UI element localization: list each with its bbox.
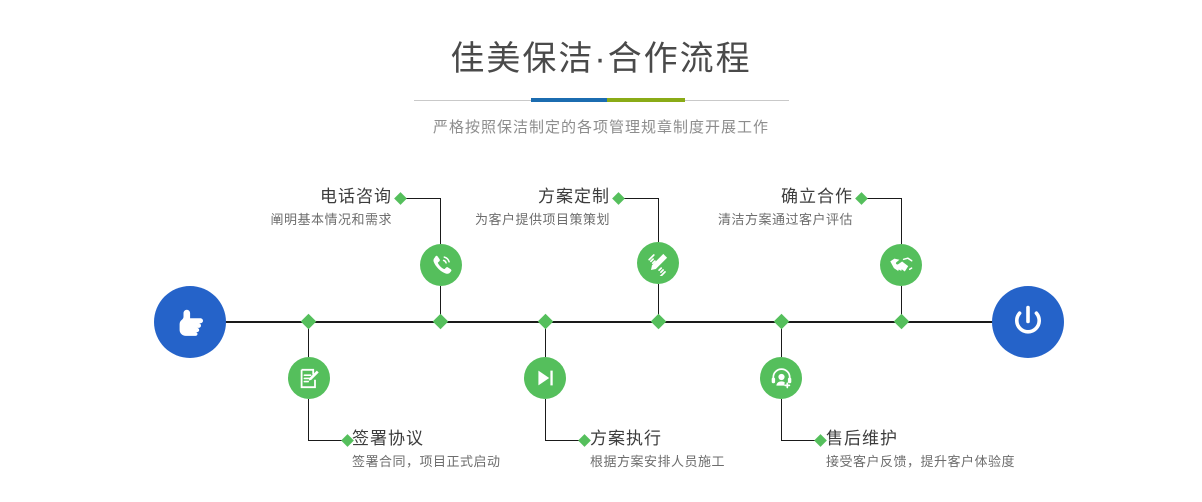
connector-step-1-vertical bbox=[440, 198, 441, 244]
marker-step-4-label bbox=[578, 434, 591, 447]
node-step-6 bbox=[760, 357, 802, 399]
document-edit-icon bbox=[297, 366, 322, 391]
label-step-3-desc: 为客户提供项目策策划 bbox=[330, 210, 610, 230]
marker-step-6-axis bbox=[774, 314, 790, 330]
handshake-icon bbox=[888, 252, 914, 278]
label-step-6-desc: 接受客户反馈，提升客户体验度 bbox=[826, 452, 1015, 472]
label-step-2: 签署协议 签署合同，项目正式启动 bbox=[352, 428, 501, 472]
connector-step-3-horizontal bbox=[620, 198, 659, 199]
marker-step-4-axis bbox=[538, 314, 554, 330]
label-step-3: 方案定制 为客户提供项目策策划 bbox=[330, 186, 610, 230]
label-step-4-desc: 根据方案安排人员施工 bbox=[590, 452, 725, 472]
label-step-5: 确立合作 清洁方案通过客户评估 bbox=[570, 186, 853, 230]
cooperation-process-infographic: 佳美保洁·合作流程 严格按照保洁制定的各项管理规章制度开展工作 bbox=[0, 0, 1202, 502]
node-step-3 bbox=[637, 242, 679, 284]
node-step-5 bbox=[880, 244, 922, 286]
label-step-6-title: 售后维护 bbox=[826, 428, 1015, 450]
marker-step-5-axis bbox=[894, 314, 910, 330]
connector-step-1-horizontal bbox=[402, 198, 441, 199]
marker-step-2-axis bbox=[301, 314, 317, 330]
marker-step-5-label bbox=[855, 192, 868, 205]
pencil-ruler-icon bbox=[645, 250, 671, 276]
play-step-icon bbox=[533, 366, 557, 390]
label-step-2-title: 签署协议 bbox=[352, 428, 501, 450]
marker-step-6-label bbox=[814, 434, 827, 447]
pointing-hand-icon bbox=[170, 302, 210, 342]
customer-service-icon bbox=[769, 366, 794, 391]
label-step-5-desc: 清洁方案通过客户评估 bbox=[570, 210, 853, 230]
power-button-icon bbox=[1007, 301, 1049, 343]
node-step-2 bbox=[288, 357, 330, 399]
marker-step-3-axis bbox=[651, 314, 667, 330]
flow-diagram: 电话咨询 阐明基本情况和需求 签署协议 签署合同，项目正式启动 bbox=[0, 0, 1202, 502]
label-step-6: 售后维护 接受客户反馈，提升客户体验度 bbox=[826, 428, 1015, 472]
label-step-4: 方案执行 根据方案安排人员施工 bbox=[590, 428, 725, 472]
phone-call-icon bbox=[428, 252, 454, 278]
label-step-3-title: 方案定制 bbox=[330, 186, 610, 208]
node-step-1 bbox=[420, 244, 462, 286]
label-step-2-desc: 签署合同，项目正式启动 bbox=[352, 452, 501, 472]
node-step-4 bbox=[524, 357, 566, 399]
connector-step-2-vertical bbox=[308, 399, 309, 441]
connector-step-5-vertical bbox=[901, 198, 902, 244]
label-step-4-title: 方案执行 bbox=[590, 428, 725, 450]
connector-step-5-horizontal bbox=[863, 198, 902, 199]
marker-step-1-axis bbox=[433, 314, 449, 330]
flow-start-endpoint bbox=[154, 286, 226, 358]
connector-step-4-vertical bbox=[545, 399, 546, 441]
flow-end-endpoint bbox=[992, 286, 1064, 358]
connector-step-6-vertical bbox=[781, 399, 782, 441]
connector-step-3-vertical bbox=[658, 198, 659, 242]
